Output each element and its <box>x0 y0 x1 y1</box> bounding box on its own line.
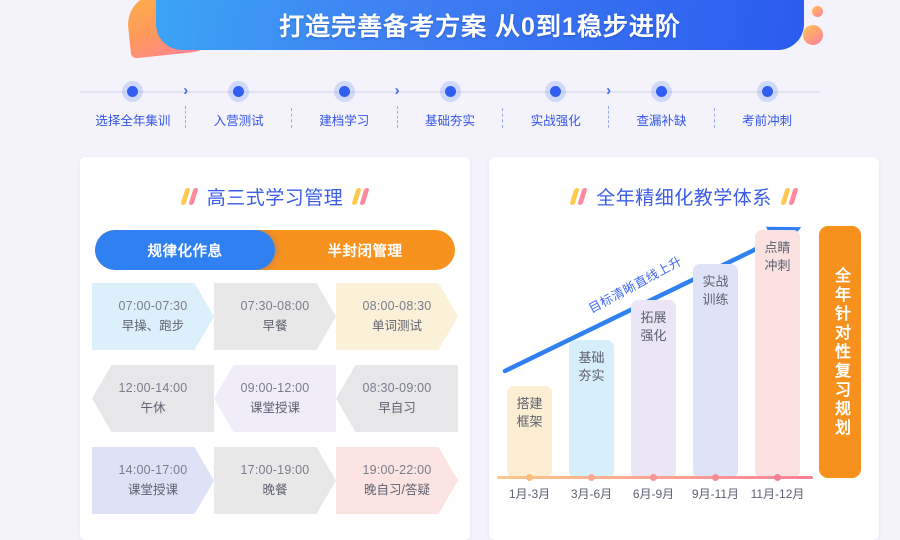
timeline-step-label: 查漏补缺 <box>636 110 686 129</box>
side-banner-label: 全年针对性复习规划 <box>828 267 852 438</box>
quote-mark-left-icon <box>572 188 585 205</box>
yearly-plan-chart: 目标清晰直线上升 搭建框架基础夯实拓展强化实战训练点睛冲刺 1月-3月3月-6月… <box>489 223 879 540</box>
timeline-separator: › <box>597 78 621 134</box>
header-banner: 打造完善备考方案 从0到1稳步进阶 <box>0 0 900 62</box>
axis-tick-dot <box>588 474 595 481</box>
schedule-slot-activity: 早自习 <box>378 399 416 418</box>
chart-plot-area: 目标清晰直线上升 搭建框架基础夯实拓展强化实战训练点睛冲刺 <box>497 223 815 478</box>
axis-tick-label: 9月-11月 <box>692 485 739 502</box>
schedule-slot: 14:00-17:00课堂授课 <box>92 447 214 514</box>
schedule-slot-time: 19:00-22:00 <box>363 461 432 480</box>
timeline-step-label: 选择全年集训 <box>95 110 170 129</box>
timeline-step[interactable]: 选择全年集训 <box>80 78 186 134</box>
schedule-slot-time: 07:00-07:30 <box>119 297 188 316</box>
chart-x-axis <box>497 475 813 480</box>
dashed-divider <box>608 106 609 128</box>
dashed-divider <box>185 106 186 128</box>
right-card-title: 全年精细化教学体系 <box>596 183 772 210</box>
right-card-header: 全年精细化教学体系 <box>489 157 879 210</box>
schedule-slot-activity: 课堂授课 <box>250 399 300 418</box>
schedule-slot-activity: 单词测试 <box>372 317 422 336</box>
timeline-step[interactable]: 入营测试 <box>186 78 292 134</box>
schedule-slot-time: 09:00-12:00 <box>241 379 310 398</box>
chart-bar-label: 基础夯实 <box>577 349 607 384</box>
quote-mark-left-icon <box>183 188 196 205</box>
timeline-step[interactable]: 考前冲刺 <box>714 78 820 134</box>
schedule-slot-activity: 课堂授课 <box>128 481 178 500</box>
schedule-row: 14:00-17:00课堂授课17:00-19:00晚餐19:00-22:00晚… <box>92 447 458 514</box>
schedule-slot: 12:00-14:00午休 <box>92 365 214 432</box>
timeline-dot-icon <box>656 86 667 97</box>
chart-bar: 搭建框架 <box>507 386 552 478</box>
timeline-separator: › <box>174 78 198 134</box>
schedule-slot: 17:00-19:00晚餐 <box>214 447 336 514</box>
timeline-separator <box>702 78 726 134</box>
timeline-dot-icon <box>127 86 138 97</box>
chart-x-axis-labels: 1月-3月3月-6月6月-9月9月-11月11月-12月 <box>489 485 819 505</box>
axis-tick-label: 6月-9月 <box>633 485 674 502</box>
schedule-slot: 09:00-12:00课堂授课 <box>214 365 336 432</box>
timeline-dot-icon <box>233 86 244 97</box>
decorative-dot-small <box>812 6 823 17</box>
schedule-tab-1[interactable]: 规律化作息 <box>95 230 275 270</box>
quote-mark-right-icon <box>783 188 796 205</box>
left-card-header: 高三式学习管理 <box>80 157 470 210</box>
side-banner-yearly-plan: 全年针对性复习规划 <box>819 226 861 478</box>
chart-bar-label: 点睛冲刺 <box>763 239 793 274</box>
timeline-step[interactable]: 建档学习 <box>291 78 397 134</box>
schedule-slot-time: 12:00-14:00 <box>119 379 188 398</box>
timeline-step-label: 建档学习 <box>319 110 369 129</box>
timeline-dot-icon <box>762 86 773 97</box>
schedule-row: 12:00-14:00午休09:00-12:00课堂授课08:30-09:00早… <box>92 365 458 432</box>
timeline-separator <box>491 78 515 134</box>
timeline-separator <box>279 78 303 134</box>
chart-bar: 点睛冲刺 <box>755 230 800 478</box>
schedule-slot-time: 07:30-08:00 <box>241 297 310 316</box>
schedule-slot-activity: 早操、跑步 <box>122 317 185 336</box>
schedule-slot: 19:00-22:00晚自习/答疑 <box>336 447 458 514</box>
axis-tick-dot <box>526 474 533 481</box>
timeline-step-label: 入营测试 <box>214 110 264 129</box>
axis-tick-label: 1月-3月 <box>509 485 550 502</box>
decorative-dot-large <box>803 25 823 45</box>
schedule-slot-time: 17:00-19:00 <box>241 461 310 480</box>
schedule-slot-time: 08:30-09:00 <box>363 379 432 398</box>
axis-tick-dot <box>712 474 719 481</box>
schedule-slot: 08:30-09:00早自习 <box>336 365 458 432</box>
chevron-right-icon: › <box>395 83 400 98</box>
schedule-slot-activity: 晚自习/答疑 <box>364 481 430 500</box>
chevron-right-icon: › <box>183 83 188 98</box>
chart-bar: 实战训练 <box>693 264 738 478</box>
banner-bar: 打造完善备考方案 从0到1稳步进阶 <box>156 0 804 50</box>
chart-bar-label: 拓展强化 <box>639 309 669 344</box>
schedule-row: 07:00-07:30早操、跑步07:30-08:00早餐08:00-08:30… <box>92 283 458 350</box>
process-timeline: 选择全年集训入营测试建档学习基础夯实实战强化查漏补缺考前冲刺 ››› <box>80 78 820 134</box>
card-study-management: 高三式学习管理 规律化作息半封闭管理 07:00-07:30早操、跑步07:30… <box>80 157 470 540</box>
schedule-slot: 08:00-08:30单词测试 <box>336 283 458 350</box>
dashed-divider <box>291 108 292 128</box>
schedule-slot-activity: 晚餐 <box>262 481 287 500</box>
timeline-separator: › <box>385 78 409 134</box>
banner-title: 打造完善备考方案 从0到1稳步进阶 <box>279 7 681 43</box>
axis-tick-label: 3月-6月 <box>571 485 612 502</box>
timeline-step-label: 考前冲刺 <box>742 110 792 129</box>
schedule-slot: 07:00-07:30早操、跑步 <box>92 283 214 350</box>
timeline-dot-icon <box>445 86 456 97</box>
dashed-divider <box>714 108 715 128</box>
schedule-tab-2[interactable]: 半封闭管理 <box>275 230 455 270</box>
schedule-tab-group[interactable]: 规律化作息半封闭管理 <box>95 230 455 270</box>
chart-bar: 基础夯实 <box>569 340 614 478</box>
daily-schedule-grid: 07:00-07:30早操、跑步07:30-08:00早餐08:00-08:30… <box>92 283 458 529</box>
timeline-step[interactable]: 查漏补缺 <box>609 78 715 134</box>
timeline-dot-icon <box>339 86 350 97</box>
timeline-dot-icon <box>550 86 561 97</box>
axis-tick-label: 11月-12月 <box>751 485 805 502</box>
timeline-step[interactable]: 实战强化 <box>503 78 609 134</box>
timeline-step[interactable]: 基础夯实 <box>397 78 503 134</box>
chevron-right-icon: › <box>606 83 611 98</box>
card-teaching-system: 全年精细化教学体系 目标清晰直线上升 搭建框架基础夯实拓展强化实战训练点睛冲刺 <box>489 157 879 540</box>
axis-tick-dot <box>774 474 781 481</box>
chart-bar: 拓展强化 <box>631 300 676 478</box>
axis-tick-dot <box>650 474 657 481</box>
dashed-divider <box>397 106 398 128</box>
schedule-slot-time: 08:00-08:30 <box>363 297 432 316</box>
schedule-slot-activity: 午休 <box>140 399 165 418</box>
timeline-step-label: 实战强化 <box>531 110 581 129</box>
schedule-slot: 07:30-08:00早餐 <box>214 283 336 350</box>
infographic-root: 打造完善备考方案 从0到1稳步进阶 选择全年集训入营测试建档学习基础夯实实战强化… <box>0 0 900 540</box>
schedule-slot-time: 14:00-17:00 <box>119 461 188 480</box>
left-card-title: 高三式学习管理 <box>207 183 344 210</box>
chart-bar-label: 实战训练 <box>701 273 731 308</box>
chart-bar-label: 搭建框架 <box>515 395 545 430</box>
quote-mark-right-icon <box>354 188 367 205</box>
dashed-divider <box>502 108 503 128</box>
schedule-slot-activity: 早餐 <box>262 317 287 336</box>
timeline-step-label: 基础夯实 <box>425 110 475 129</box>
